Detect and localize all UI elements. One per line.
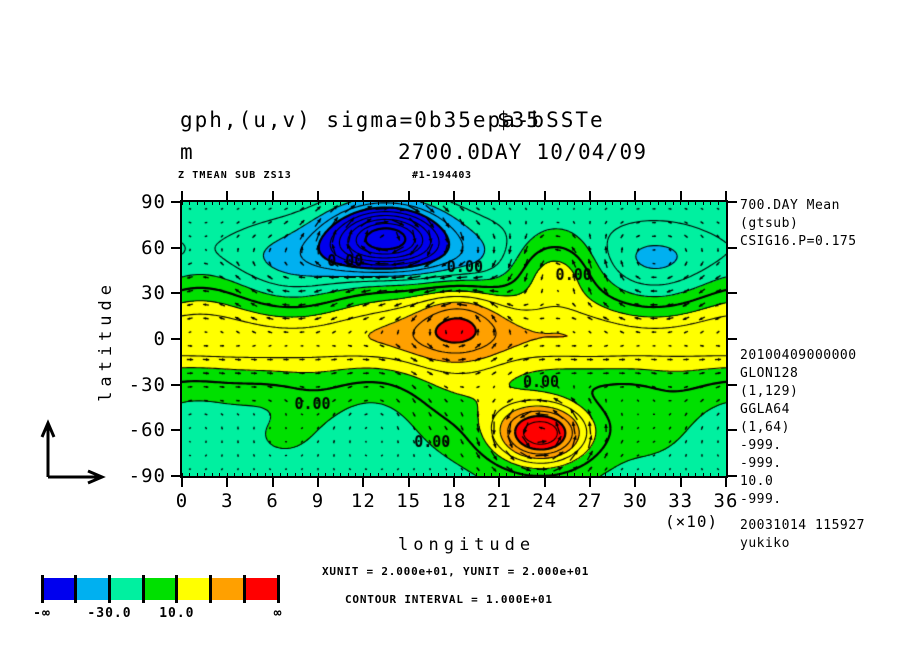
colorbar-label: ∞ xyxy=(256,606,300,621)
x-minor-tick xyxy=(393,473,394,478)
x-minor-tick xyxy=(265,473,266,478)
x-minor-tick xyxy=(234,473,235,478)
x-minor-tick xyxy=(219,200,220,205)
x-tick-mark xyxy=(226,478,228,487)
y-tick-mark-right xyxy=(728,475,737,477)
x-minor-tick xyxy=(552,200,553,205)
x-minor-tick xyxy=(476,200,477,205)
x-minor-tick xyxy=(438,473,439,478)
x-minor-tick xyxy=(544,200,545,205)
chart-title-line1: gph,(u,v) sigma=0b35epa-bSSTe xyxy=(180,108,605,132)
x-minor-tick xyxy=(642,473,643,478)
x-minor-tick xyxy=(620,200,621,205)
x-tick-mark-top xyxy=(544,191,546,200)
x-minor-tick xyxy=(612,200,613,205)
x-minor-tick xyxy=(658,200,659,205)
x-minor-tick xyxy=(189,473,190,478)
x-minor-tick xyxy=(642,200,643,205)
x-minor-tick xyxy=(559,200,560,205)
x-minor-tick xyxy=(234,200,235,205)
x-tick-label: 27 xyxy=(570,490,610,512)
x-minor-tick xyxy=(469,200,470,205)
x-minor-tick xyxy=(559,473,560,478)
x-minor-tick xyxy=(393,200,394,205)
x-minor-tick xyxy=(590,200,591,205)
y-axis-label: latitude xyxy=(96,280,116,402)
x-minor-tick xyxy=(302,200,303,205)
metadata-line: (1,129) xyxy=(740,384,798,399)
x-tick-label: 18 xyxy=(434,490,474,512)
x-minor-tick xyxy=(718,473,719,478)
x-minor-tick xyxy=(499,473,500,478)
x-minor-tick xyxy=(378,473,379,478)
x-tick-mark-top xyxy=(680,191,682,200)
x-tick-mark-top xyxy=(725,191,727,200)
x-minor-tick xyxy=(718,200,719,205)
x-minor-tick xyxy=(318,200,319,205)
x-minor-tick xyxy=(552,473,553,478)
x-minor-tick xyxy=(650,473,651,478)
x-minor-tick xyxy=(302,473,303,478)
metadata-line: (gtsub) xyxy=(740,216,798,231)
x-minor-tick xyxy=(250,200,251,205)
x-minor-tick xyxy=(280,473,281,478)
x-minor-tick xyxy=(612,473,613,478)
x-minor-tick xyxy=(484,200,485,205)
x-minor-tick xyxy=(182,200,183,205)
x-minor-tick xyxy=(529,200,530,205)
x-minor-tick xyxy=(567,473,568,478)
y-tick-label: -90 xyxy=(106,465,166,487)
colorbar-tick xyxy=(142,575,145,603)
x-tick-mark xyxy=(181,478,183,487)
x-minor-tick xyxy=(242,200,243,205)
x-minor-tick xyxy=(695,473,696,478)
x-minor-tick xyxy=(537,200,538,205)
x-minor-tick xyxy=(438,200,439,205)
x-minor-tick xyxy=(673,473,674,478)
x-minor-tick xyxy=(454,473,455,478)
chart-title-line2: m xyxy=(180,140,195,164)
colorbar-band xyxy=(177,578,211,600)
x-minor-tick xyxy=(695,200,696,205)
x-tick-label: 30 xyxy=(615,490,655,512)
colorbar-tick xyxy=(74,575,77,603)
x-tick-label: 3 xyxy=(207,490,247,512)
x-minor-tick xyxy=(416,200,417,205)
x-minor-tick xyxy=(574,473,575,478)
x-minor-tick xyxy=(182,473,183,478)
x-minor-tick xyxy=(582,473,583,478)
x-minor-tick xyxy=(370,473,371,478)
x-minor-tick xyxy=(212,473,213,478)
x-minor-tick xyxy=(295,200,296,205)
x-minor-tick xyxy=(333,473,334,478)
x-tick-mark-top xyxy=(181,191,183,200)
x-tick-mark-top xyxy=(589,191,591,200)
contour-plot-area xyxy=(180,200,728,478)
x-minor-tick xyxy=(491,473,492,478)
x-minor-tick xyxy=(257,473,258,478)
x-minor-tick xyxy=(431,473,432,478)
x-tick-mark xyxy=(408,478,410,487)
x-minor-tick xyxy=(605,473,606,478)
x-minor-tick xyxy=(726,473,727,478)
x-tick-mark xyxy=(544,478,546,487)
x-minor-tick xyxy=(469,473,470,478)
x-axis-multiplier: (×10) xyxy=(665,512,718,531)
x-minor-tick xyxy=(461,473,462,478)
x-minor-tick xyxy=(635,200,636,205)
x-axis-label: longitude xyxy=(398,535,535,555)
x-minor-tick xyxy=(688,473,689,478)
x-tick-label: 15 xyxy=(389,490,429,512)
y-tick-mark-right xyxy=(728,247,737,249)
x-minor-tick xyxy=(348,473,349,478)
colorbar-band xyxy=(76,578,110,600)
x-minor-tick xyxy=(272,473,273,478)
y-tick-mark-right xyxy=(728,384,737,386)
metadata-line: 10.0 xyxy=(740,474,773,489)
x-minor-tick xyxy=(650,200,651,205)
y-tick-label: -60 xyxy=(106,419,166,441)
x-tick-mark-top xyxy=(317,191,319,200)
subheader-record-id: #1-194403 xyxy=(412,170,472,181)
x-minor-tick xyxy=(310,473,311,478)
x-tick-mark-top xyxy=(272,191,274,200)
x-minor-tick xyxy=(658,473,659,478)
x-minor-tick xyxy=(635,473,636,478)
metadata-line: -999. xyxy=(740,438,782,453)
x-tick-mark xyxy=(498,478,500,487)
metadata-line: (1,64) xyxy=(740,420,790,435)
x-tick-mark xyxy=(725,478,727,487)
x-minor-tick xyxy=(250,473,251,478)
y-tick-mark xyxy=(171,247,180,249)
colorbar-band xyxy=(143,578,177,600)
contour-field-canvas xyxy=(182,202,726,476)
x-tick-label: 21 xyxy=(479,490,519,512)
metadata-line: CSIG16.P=0.175 xyxy=(740,234,857,249)
colorbar-band xyxy=(211,578,245,600)
x-minor-tick xyxy=(348,200,349,205)
x-tick-mark-top xyxy=(408,191,410,200)
x-minor-tick xyxy=(386,473,387,478)
x-minor-tick xyxy=(401,200,402,205)
y-tick-label: 60 xyxy=(106,237,166,259)
x-tick-mark xyxy=(272,478,274,487)
x-minor-tick xyxy=(680,473,681,478)
x-minor-tick xyxy=(726,200,727,205)
y-tick-mark-right xyxy=(728,429,737,431)
x-minor-tick xyxy=(416,473,417,478)
x-tick-mark xyxy=(453,478,455,487)
colorbar-tick xyxy=(108,575,111,603)
x-minor-tick xyxy=(431,200,432,205)
x-minor-tick xyxy=(333,200,334,205)
x-minor-tick xyxy=(280,200,281,205)
x-tick-mark xyxy=(634,478,636,487)
colorbar-tick xyxy=(243,575,246,603)
vector-scale-key xyxy=(40,415,110,485)
colorbar-band xyxy=(109,578,143,600)
metadata-line: GGLA64 xyxy=(740,402,790,417)
subheader-variable: Z TMEAN SUB ZS13 xyxy=(178,170,292,181)
colorbar-tick xyxy=(41,575,44,603)
metadata-line: -999. xyxy=(740,492,782,507)
x-minor-tick xyxy=(703,200,704,205)
x-minor-tick xyxy=(265,200,266,205)
x-minor-tick xyxy=(446,200,447,205)
chart-title-datetime: 2700.0DAY 10/04/09 xyxy=(398,140,647,164)
x-tick-mark-top xyxy=(498,191,500,200)
footer-contour-interval: CONTOUR INTERVAL = 1.000E+01 xyxy=(345,593,553,606)
x-tick-label: 12 xyxy=(343,490,383,512)
x-minor-tick xyxy=(499,200,500,205)
x-minor-tick xyxy=(370,200,371,205)
y-tick-mark-right xyxy=(728,292,737,294)
metadata-line: GLON128 xyxy=(740,366,798,381)
x-minor-tick xyxy=(355,200,356,205)
y-tick-mark xyxy=(171,338,180,340)
x-minor-tick xyxy=(506,200,507,205)
x-tick-mark xyxy=(362,478,364,487)
x-minor-tick xyxy=(378,200,379,205)
x-minor-tick xyxy=(710,473,711,478)
x-minor-tick xyxy=(204,200,205,205)
x-minor-tick xyxy=(257,200,258,205)
x-minor-tick xyxy=(423,473,424,478)
x-minor-tick xyxy=(506,473,507,478)
x-minor-tick xyxy=(597,473,598,478)
colorbar-label: -∞ xyxy=(20,606,64,621)
x-tick-mark-top xyxy=(634,191,636,200)
x-minor-tick xyxy=(537,473,538,478)
x-minor-tick xyxy=(204,473,205,478)
x-minor-tick xyxy=(514,473,515,478)
x-tick-mark-top xyxy=(226,191,228,200)
x-minor-tick xyxy=(567,200,568,205)
x-minor-tick xyxy=(590,473,591,478)
x-minor-tick xyxy=(287,473,288,478)
x-minor-tick xyxy=(605,200,606,205)
x-minor-tick xyxy=(287,200,288,205)
y-tick-mark xyxy=(171,201,180,203)
x-minor-tick xyxy=(491,200,492,205)
colorbar-tick xyxy=(175,575,178,603)
chart-title-overprint: $35 xyxy=(497,108,541,132)
x-minor-tick xyxy=(514,200,515,205)
x-minor-tick xyxy=(363,473,364,478)
metadata-line: 20031014 115927 xyxy=(740,518,865,533)
x-minor-tick xyxy=(242,473,243,478)
colorbar-tick xyxy=(209,575,212,603)
x-minor-tick xyxy=(318,473,319,478)
x-minor-tick xyxy=(461,200,462,205)
x-minor-tick xyxy=(197,200,198,205)
x-minor-tick xyxy=(310,200,311,205)
x-minor-tick xyxy=(219,473,220,478)
metadata-line: 20100409000000 xyxy=(740,348,857,363)
x-minor-tick xyxy=(340,473,341,478)
y-tick-label: 90 xyxy=(106,191,166,213)
x-minor-tick xyxy=(423,200,424,205)
x-tick-label: 6 xyxy=(253,490,293,512)
x-minor-tick xyxy=(522,473,523,478)
colorbar-label: 10.0 xyxy=(155,606,199,621)
x-minor-tick xyxy=(408,200,409,205)
x-tick-label: 24 xyxy=(525,490,565,512)
y-tick-mark xyxy=(171,384,180,386)
x-minor-tick xyxy=(544,473,545,478)
x-tick-mark xyxy=(317,478,319,487)
x-minor-tick xyxy=(227,200,228,205)
x-minor-tick xyxy=(189,200,190,205)
colorbar-band xyxy=(244,578,278,600)
x-minor-tick xyxy=(680,200,681,205)
x-tick-mark-top xyxy=(362,191,364,200)
x-minor-tick xyxy=(710,200,711,205)
x-minor-tick xyxy=(665,473,666,478)
x-minor-tick xyxy=(363,200,364,205)
metadata-line: yukiko xyxy=(740,536,790,551)
x-minor-tick xyxy=(197,473,198,478)
x-tick-mark xyxy=(589,478,591,487)
x-minor-tick xyxy=(703,473,704,478)
y-tick-mark-right xyxy=(728,201,737,203)
x-minor-tick xyxy=(665,200,666,205)
x-minor-tick xyxy=(212,200,213,205)
x-minor-tick xyxy=(484,473,485,478)
colorbar-tick xyxy=(277,575,280,603)
x-minor-tick xyxy=(227,473,228,478)
x-minor-tick xyxy=(325,200,326,205)
x-minor-tick xyxy=(620,473,621,478)
y-tick-mark xyxy=(171,475,180,477)
metadata-line: 700.DAY Mean xyxy=(740,198,840,213)
x-minor-tick xyxy=(673,200,674,205)
colorbar-band xyxy=(42,578,76,600)
x-minor-tick xyxy=(582,200,583,205)
x-tick-label: 9 xyxy=(298,490,338,512)
x-minor-tick xyxy=(597,200,598,205)
x-minor-tick xyxy=(295,473,296,478)
x-minor-tick xyxy=(408,473,409,478)
x-minor-tick xyxy=(574,200,575,205)
x-minor-tick xyxy=(476,473,477,478)
y-tick-mark xyxy=(171,292,180,294)
x-minor-tick xyxy=(522,200,523,205)
x-tick-mark xyxy=(680,478,682,487)
x-minor-tick xyxy=(454,200,455,205)
x-minor-tick xyxy=(340,200,341,205)
x-minor-tick xyxy=(446,473,447,478)
x-minor-tick xyxy=(386,200,387,205)
x-minor-tick xyxy=(401,473,402,478)
y-tick-mark xyxy=(171,429,180,431)
x-minor-tick xyxy=(688,200,689,205)
x-minor-tick xyxy=(529,473,530,478)
x-minor-tick xyxy=(325,473,326,478)
x-minor-tick xyxy=(272,200,273,205)
x-minor-tick xyxy=(355,473,356,478)
x-tick-mark-top xyxy=(453,191,455,200)
x-tick-label: 0 xyxy=(162,490,202,512)
metadata-line: -999. xyxy=(740,456,782,471)
x-tick-label: 33 xyxy=(661,490,701,512)
colorbar-label: -30.0 xyxy=(87,606,131,621)
y-tick-mark-right xyxy=(728,338,737,340)
x-minor-tick xyxy=(627,473,628,478)
footer-units: XUNIT = 2.000e+01, YUNIT = 2.000e+01 xyxy=(322,565,589,578)
x-minor-tick xyxy=(627,200,628,205)
